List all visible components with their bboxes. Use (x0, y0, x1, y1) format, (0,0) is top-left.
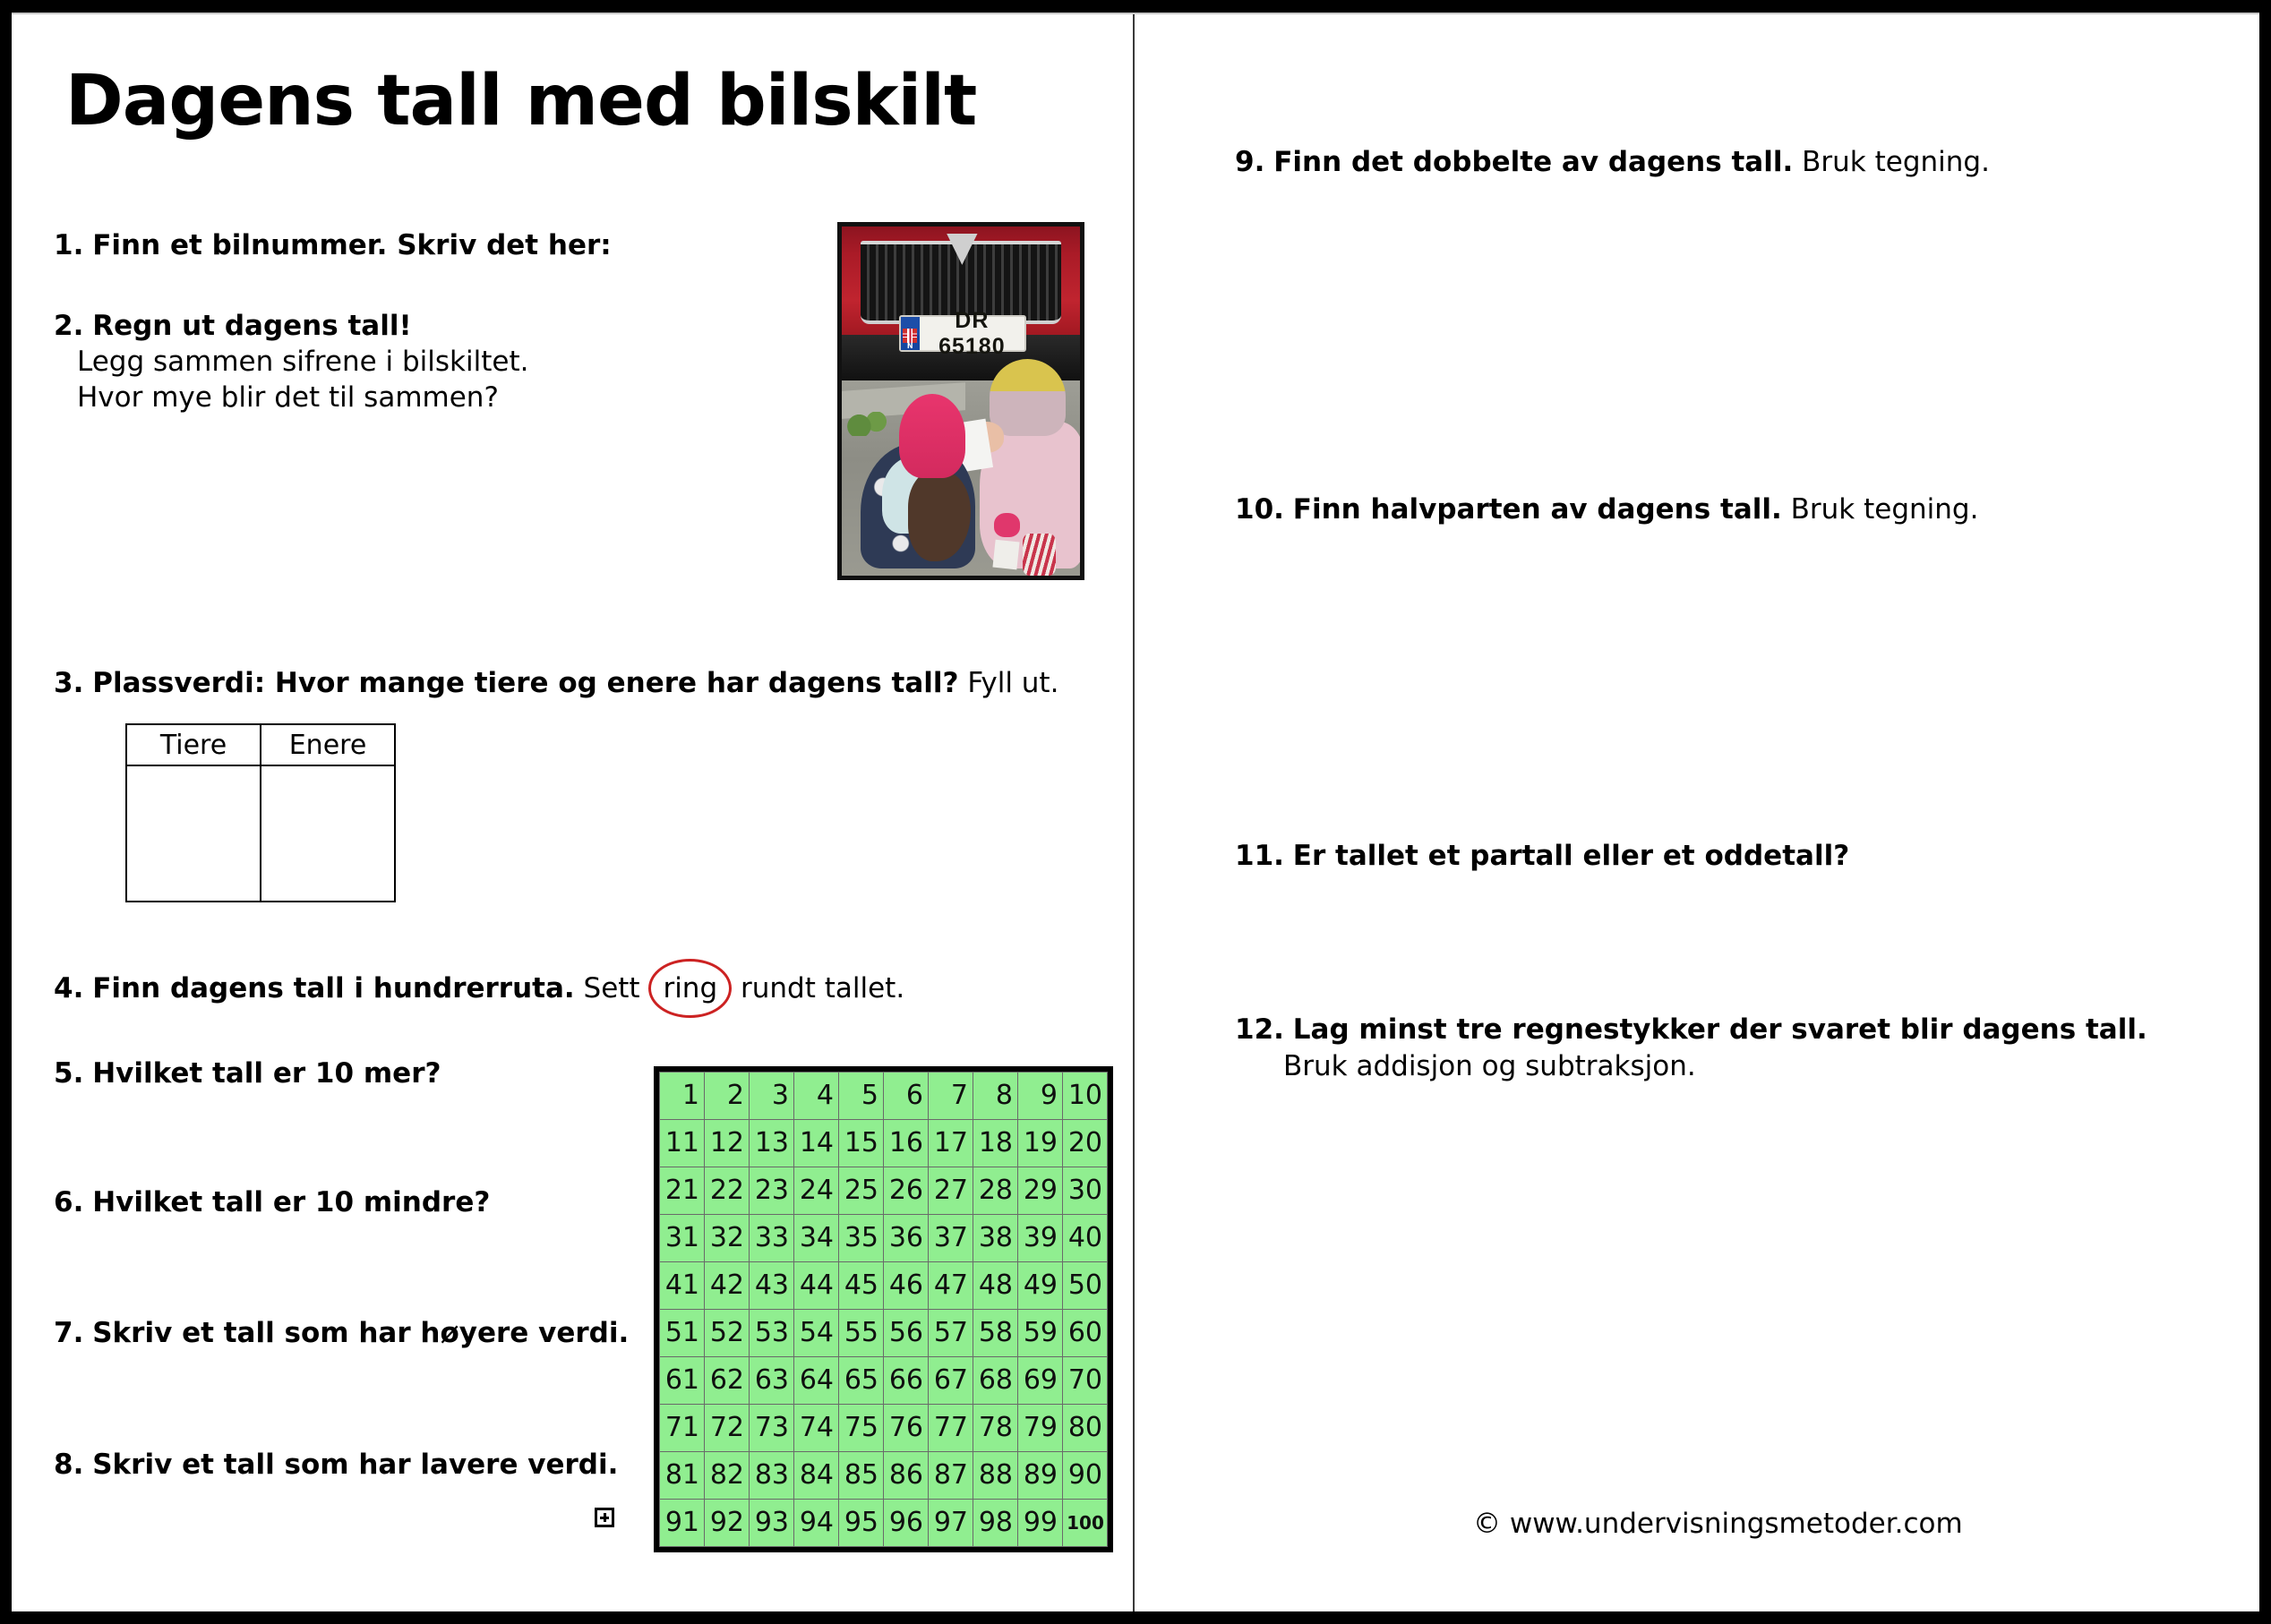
photo-plate-number: DR 65180 (920, 308, 1025, 360)
question-5: 5. Hvilket tall er 10 mer? (54, 1056, 441, 1092)
hundred-grid-cell[interactable]: 56 (884, 1310, 929, 1357)
hundred-grid-cell[interactable]: 36 (884, 1215, 929, 1262)
hundred-grid-cell[interactable]: 60 (1063, 1310, 1108, 1357)
hundred-grid-cell[interactable]: 18 (973, 1120, 1018, 1167)
hundred-grid-cell[interactable]: 15 (839, 1120, 884, 1167)
photo-license-plate: N DR 65180 (899, 315, 1026, 352)
question-4: 4. Finn dagens tall i hundrerruta. Sett … (54, 970, 904, 1007)
hundred-grid-cell[interactable]: 80 (1063, 1405, 1108, 1452)
hundred-grid-cell[interactable]: 4 (794, 1073, 839, 1120)
circled-word-ring: ring (648, 970, 732, 1007)
question-9-hint: Bruk tegning. (1802, 146, 1990, 178)
hundred-grid-cell[interactable]: 25 (839, 1167, 884, 1215)
question-2-sub1-text: Legg sammen sifrene i bilskiltet. (77, 346, 528, 378)
table-cell-tiere[interactable] (126, 765, 261, 902)
hundred-grid-row: 91 92 93 94 95 96 97 98 99 100 (660, 1500, 1108, 1547)
question-4-number: 4. (54, 972, 83, 1004)
hundred-grid-cell[interactable]: 32 (705, 1215, 750, 1262)
photo-child-left-hat (899, 394, 965, 478)
hundred-grid-cell[interactable]: 13 (750, 1120, 794, 1167)
hundred-grid-cell[interactable]: 47 (929, 1262, 973, 1310)
hundred-grid-cell[interactable]: 93 (750, 1500, 794, 1547)
photo-child-right-hat (990, 359, 1066, 436)
question-2-sub2-text: Hvor mye blir det til sammen? (77, 381, 499, 414)
hundred-grid-cell[interactable]: 17 (929, 1120, 973, 1167)
hundred-grid-cell[interactable]: 8 (973, 1073, 1018, 1120)
hundred-grid-cell[interactable]: 74 (794, 1405, 839, 1452)
question-9-number: 9. (1235, 146, 1264, 178)
question-12: 12. Lag minst tre regnestykker der svare… (1235, 1012, 2147, 1048)
worksheet-page: Dagens tall med bilskilt 1. Finn et biln… (12, 13, 2259, 1611)
question-12-number: 12. (1235, 1013, 1284, 1046)
hundred-grid-cell[interactable]: 91 (660, 1500, 705, 1547)
hundred-grid-cell[interactable]: 43 (750, 1262, 794, 1310)
question-10-number: 10. (1235, 493, 1284, 526)
hundred-grid-cell[interactable]: 21 (660, 1167, 705, 1215)
question-11-text: Er tallet et partall eller et oddetall? (1293, 840, 1849, 872)
hundred-grid-cell[interactable]: 63 (750, 1357, 794, 1405)
hundred-grid-cell[interactable]: 81 (660, 1452, 705, 1500)
hundred-grid-cell[interactable]: 6 (884, 1073, 929, 1120)
photo-grass (846, 412, 889, 436)
table-header-enere: Enere (261, 724, 395, 765)
hundred-grid-cell[interactable]: 34 (794, 1215, 839, 1262)
hundred-grid-cell[interactable]: 30 (1063, 1167, 1108, 1215)
hundred-grid-cell[interactable]: 88 (973, 1452, 1018, 1500)
hundred-grid-cell[interactable]: 11 (660, 1120, 705, 1167)
hundred-grid-cell[interactable]: 10 (1063, 1073, 1108, 1120)
hundred-grid-cell[interactable]: 23 (750, 1167, 794, 1215)
hundred-grid-cell[interactable]: 84 (794, 1452, 839, 1500)
hundred-grid-cell[interactable]: 64 (794, 1357, 839, 1405)
hundred-grid-cell[interactable]: 87 (929, 1452, 973, 1500)
question-2-text: Regn ut dagens tall! (92, 310, 411, 342)
question-7-text: Skriv et tall som har høyere verdi. (92, 1317, 629, 1349)
table-row (126, 765, 395, 902)
hundred-grid-cell[interactable]: 52 (705, 1310, 750, 1357)
hundred-grid-cell[interactable]: 100 (1063, 1500, 1108, 1547)
question-11-number: 11. (1235, 840, 1284, 872)
place-value-table: Tiere Enere (125, 723, 396, 902)
hundred-grid-cell[interactable]: 42 (705, 1262, 750, 1310)
question-4-text: Finn dagens tall i hundrerruta. (92, 972, 574, 1004)
hundred-grid-cell[interactable]: 99 (1018, 1500, 1063, 1547)
hundred-grid-cell[interactable]: 28 (973, 1167, 1018, 1215)
hundred-grid-cell[interactable]: 73 (750, 1405, 794, 1452)
hundred-grid-cell[interactable]: 7 (929, 1073, 973, 1120)
question-4-hint-after: rundt tallet. (741, 972, 904, 1004)
question-7: 7. Skriv et tall som har høyere verdi. (54, 1315, 629, 1352)
question-11: 11. Er tallet et partall eller et oddeta… (1235, 838, 1849, 875)
hundred-grid-cell[interactable]: 83 (750, 1452, 794, 1500)
table-header-tiere: Tiere (126, 724, 261, 765)
hundred-grid-cell[interactable]: 2 (705, 1073, 750, 1120)
hundred-grid-cell[interactable]: 40 (1063, 1215, 1108, 1262)
hundred-grid-cell[interactable]: 37 (929, 1215, 973, 1262)
question-8-text: Skriv et tall som har lavere verdi. (92, 1449, 618, 1481)
hundred-grid[interactable]: 1 2 3 4 5 6 7 8 9 10 11 12 13 14 15 16 1… (654, 1066, 1113, 1552)
hundred-grid-cell[interactable]: 94 (794, 1500, 839, 1547)
hundred-grid-row: 51 52 53 54 55 56 57 58 59 60 (660, 1310, 1108, 1357)
hundred-grid-cell[interactable]: 54 (794, 1310, 839, 1357)
hundred-grid-cell[interactable]: 51 (660, 1310, 705, 1357)
question-3-number: 3. (54, 667, 83, 699)
question-12-text: Lag minst tre regnestykker der svaret bl… (1293, 1013, 2147, 1046)
norway-flag-icon (903, 329, 917, 344)
question-3-text: Plassverdi: Hvor mange tiere og enere ha… (92, 667, 958, 699)
hundred-grid-cell[interactable]: 66 (884, 1357, 929, 1405)
hundred-grid-cell[interactable]: 67 (929, 1357, 973, 1405)
hundred-grid-cell[interactable]: 95 (839, 1500, 884, 1547)
hundred-grid-cell[interactable]: 61 (660, 1357, 705, 1405)
hundred-grid-cell[interactable]: 59 (1018, 1310, 1063, 1357)
photo-striped-fabric (1023, 534, 1056, 576)
question-2-sub1: Legg sammen sifrene i bilskiltet. (77, 344, 528, 380)
hundred-grid-row: 1 2 3 4 5 6 7 8 9 10 (660, 1073, 1108, 1120)
hundred-grid-cell[interactable]: 35 (839, 1215, 884, 1262)
hundred-grid-cell[interactable]: 57 (929, 1310, 973, 1357)
photo-child-right-shoe (994, 513, 1020, 537)
hundred-grid-cell[interactable]: 41 (660, 1262, 705, 1310)
hundred-grid-cell[interactable]: 12 (705, 1120, 750, 1167)
question-12-sub1: Bruk addisjon og subtraksjon. (1283, 1048, 1696, 1085)
hundred-grid-cell[interactable]: 20 (1063, 1120, 1108, 1167)
table-header-row: Tiere Enere (126, 724, 395, 765)
hundred-grid-cell[interactable]: 89 (1018, 1452, 1063, 1500)
hundred-grid-table: 1 2 3 4 5 6 7 8 9 10 11 12 13 14 15 16 1… (659, 1072, 1108, 1547)
hundred-grid-cell[interactable]: 48 (973, 1262, 1018, 1310)
hundred-grid-cell[interactable]: 9 (1018, 1073, 1063, 1120)
hundred-grid-cell[interactable]: 24 (794, 1167, 839, 1215)
hundred-grid-row: 31 32 33 34 35 36 37 38 39 40 (660, 1215, 1108, 1262)
hundred-grid-cell[interactable]: 26 (884, 1167, 929, 1215)
hundred-grid-cell[interactable]: 97 (929, 1500, 973, 1547)
hundred-grid-row: 81 82 83 84 85 86 87 88 89 90 (660, 1452, 1108, 1500)
hundred-grid-cell[interactable]: 45 (839, 1262, 884, 1310)
hundred-grid-cell[interactable]: 50 (1063, 1262, 1108, 1310)
table-cell-enere[interactable] (261, 765, 395, 902)
hundred-grid-cell[interactable]: 71 (660, 1405, 705, 1452)
hundred-grid-cell[interactable]: 33 (750, 1215, 794, 1262)
hundred-grid-cell[interactable]: 85 (839, 1452, 884, 1500)
hundred-grid-cell[interactable]: 78 (973, 1405, 1018, 1452)
question-3: 3. Plassverdi: Hvor mange tiere og enere… (54, 665, 1058, 702)
hundred-grid-cell[interactable]: 75 (839, 1405, 884, 1452)
question-1-text: Finn et bilnummer. Skriv det her: (92, 229, 611, 261)
hundred-grid-cell[interactable]: 5 (839, 1073, 884, 1120)
photo-paper-on-ground (993, 540, 1020, 570)
question-9-text: Finn det dobbelte av dagens tall. (1273, 146, 1793, 178)
question-2-sub2: Hvor mye blir det til sammen? (77, 380, 499, 416)
hundred-grid-cell[interactable]: 76 (884, 1405, 929, 1452)
hundred-grid-row: 71 72 73 74 75 76 77 78 79 80 (660, 1405, 1108, 1452)
hundred-grid-cell[interactable]: 65 (839, 1357, 884, 1405)
hundred-grid-cell[interactable]: 72 (705, 1405, 750, 1452)
hundred-grid-cell[interactable]: 68 (973, 1357, 1018, 1405)
hundred-grid-cell[interactable]: 22 (705, 1167, 750, 1215)
hundred-grid-cell[interactable]: 38 (973, 1215, 1018, 1262)
hundred-grid-cell[interactable]: 46 (884, 1262, 929, 1310)
hundred-grid-row: 21 22 23 24 25 26 27 28 29 30 (660, 1167, 1108, 1215)
hundred-grid-row: 61 62 63 64 65 66 67 68 69 70 (660, 1357, 1108, 1405)
hundred-grid-cell[interactable]: 82 (705, 1452, 750, 1500)
photo-children-with-license-plate: N DR 65180 (837, 222, 1084, 580)
photo-plate-country-band: N (901, 317, 920, 350)
question-4-hint-before: Sett (584, 972, 640, 1004)
hundred-grid-cell[interactable]: 70 (1063, 1357, 1108, 1405)
hundred-grid-cell[interactable]: 96 (884, 1500, 929, 1547)
question-10-text: Finn halvparten av dagens tall. (1293, 493, 1782, 526)
hundred-grid-cell[interactable]: 31 (660, 1215, 705, 1262)
question-5-text: Hvilket tall er 10 mer? (92, 1057, 441, 1090)
photo-plate-country-code: N (907, 343, 913, 350)
footer-copyright: © www.undervisningsmetoder.com (1473, 1508, 1963, 1540)
question-5-number: 5. (54, 1057, 83, 1090)
move-handle-icon[interactable] (595, 1508, 614, 1527)
hundred-grid-cell[interactable]: 29 (1018, 1167, 1063, 1215)
question-6-text: Hvilket tall er 10 mindre? (92, 1186, 490, 1218)
question-10-hint: Bruk tegning. (1791, 493, 1979, 526)
hundred-grid-cell[interactable]: 19 (1018, 1120, 1063, 1167)
circled-word-text: ring (663, 972, 717, 1004)
column-divider (1133, 14, 1135, 1611)
hundred-grid-row: 11 12 13 14 15 16 17 18 19 20 (660, 1120, 1108, 1167)
hundred-grid-cell[interactable]: 98 (973, 1500, 1018, 1547)
question-1-number: 1. (54, 229, 83, 261)
question-9: 9. Finn det dobbelte av dagens tall. Bru… (1235, 144, 1990, 181)
page-title: Dagens tall med bilskilt (65, 61, 976, 141)
question-3-hint: Fyll ut. (967, 667, 1058, 699)
question-6: 6. Hvilket tall er 10 mindre? (54, 1184, 490, 1221)
hundred-grid-cell[interactable]: 44 (794, 1262, 839, 1310)
hundred-grid-cell[interactable]: 77 (929, 1405, 973, 1452)
question-12-sub1-text: Bruk addisjon og subtraksjon. (1283, 1050, 1696, 1082)
question-10: 10. Finn halvparten av dagens tall. Bruk… (1235, 491, 1978, 528)
hundred-grid-cell[interactable]: 49 (1018, 1262, 1063, 1310)
hundred-grid-cell[interactable]: 92 (705, 1500, 750, 1547)
hundred-grid-cell[interactable]: 39 (1018, 1215, 1063, 1262)
hundred-grid-cell[interactable]: 3 (750, 1073, 794, 1120)
hundred-grid-cell[interactable]: 90 (1063, 1452, 1108, 1500)
question-7-number: 7. (54, 1317, 83, 1349)
hundred-grid-cell[interactable]: 16 (884, 1120, 929, 1167)
question-8: 8. Skriv et tall som har lavere verdi. (54, 1447, 618, 1483)
question-2: 2. Regn ut dagens tall! (54, 308, 412, 345)
hundred-grid-cell[interactable]: 53 (750, 1310, 794, 1357)
hundred-grid-cell[interactable]: 14 (794, 1120, 839, 1167)
hundred-grid-row: 41 42 43 44 45 46 47 48 49 50 (660, 1262, 1108, 1310)
hundred-grid-cell[interactable]: 27 (929, 1167, 973, 1215)
hundred-grid-cell[interactable]: 62 (705, 1357, 750, 1405)
question-2-number: 2. (54, 310, 83, 342)
hundred-grid-cell[interactable]: 1 (660, 1073, 705, 1120)
hundred-grid-cell[interactable]: 79 (1018, 1405, 1063, 1452)
question-8-number: 8. (54, 1449, 83, 1481)
question-6-number: 6. (54, 1186, 83, 1218)
hundred-grid-cell[interactable]: 86 (884, 1452, 929, 1500)
question-1: 1. Finn et bilnummer. Skriv det her: (54, 227, 612, 264)
hundred-grid-cell[interactable]: 55 (839, 1310, 884, 1357)
hundred-grid-cell[interactable]: 58 (973, 1310, 1018, 1357)
hundred-grid-cell[interactable]: 69 (1018, 1357, 1063, 1405)
